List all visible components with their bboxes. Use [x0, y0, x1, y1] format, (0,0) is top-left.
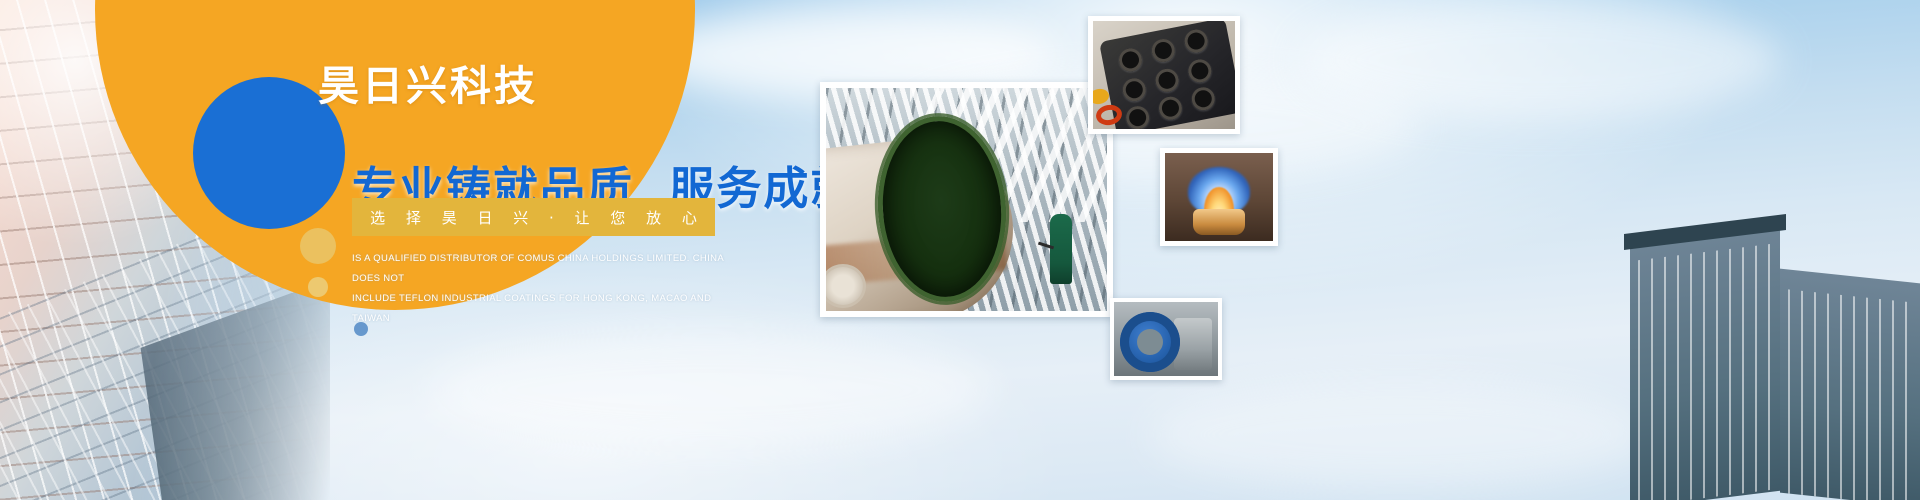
- tray-hole: [1154, 67, 1181, 94]
- building-windows: [1638, 244, 1772, 500]
- yellow-dot-small-decoration: [308, 277, 328, 297]
- blue-flange-ring-photo: [1110, 298, 1222, 380]
- tray-hole: [1124, 104, 1151, 129]
- tray-hole: [1150, 37, 1177, 64]
- photo-inner: [1114, 302, 1218, 376]
- promo-banner: 昊日兴科技 专业铸就品质 服务成就辉煌 选 择 昊 日 兴 · 让 您 放 心 …: [0, 0, 1920, 500]
- slogan-bar-text: 选 择 昊 日 兴 · 让 您 放 心: [362, 207, 705, 228]
- legal-line-1: IS A QUALIFIED DISTRIBUTOR OF COMUS CHIN…: [352, 249, 752, 289]
- photo-inner: [1093, 21, 1235, 129]
- yellow-dot-decoration: [300, 228, 336, 264]
- blue-coated-flange: [1120, 312, 1180, 372]
- tray-hole: [1186, 57, 1213, 84]
- tray-hole: [1121, 76, 1148, 103]
- building-windows: [1788, 289, 1914, 500]
- cloud-decoration: [430, 330, 990, 450]
- tray-hole: [1183, 28, 1210, 55]
- tray-hole: [1190, 85, 1217, 112]
- slogan-bar: 选 择 昊 日 兴 · 让 您 放 心: [352, 198, 715, 236]
- industrial-vessel-coating-photo: [820, 82, 1113, 317]
- coated-baking-tray-photo: [1088, 16, 1240, 134]
- crucible: [1193, 209, 1245, 235]
- photo-inner: [826, 88, 1107, 311]
- brand-name: 昊日兴科技: [318, 52, 538, 112]
- legal-line-2: INCLUDE TEFLON INDUSTRIAL COATINGS FOR H…: [352, 289, 752, 329]
- cloud-decoration: [1300, 0, 1780, 120]
- city-building-silhouette: [1380, 200, 1920, 500]
- legal-disclaimer: IS A QUALIFIED DISTRIBUTOR OF COMUS CHIN…: [352, 249, 752, 329]
- photo-inner: [1165, 153, 1273, 241]
- tray-hole: [1117, 46, 1144, 73]
- factory-worker: [1050, 214, 1072, 284]
- tray-hole: [1157, 95, 1184, 122]
- flame-spray-coating-photo: [1160, 148, 1278, 246]
